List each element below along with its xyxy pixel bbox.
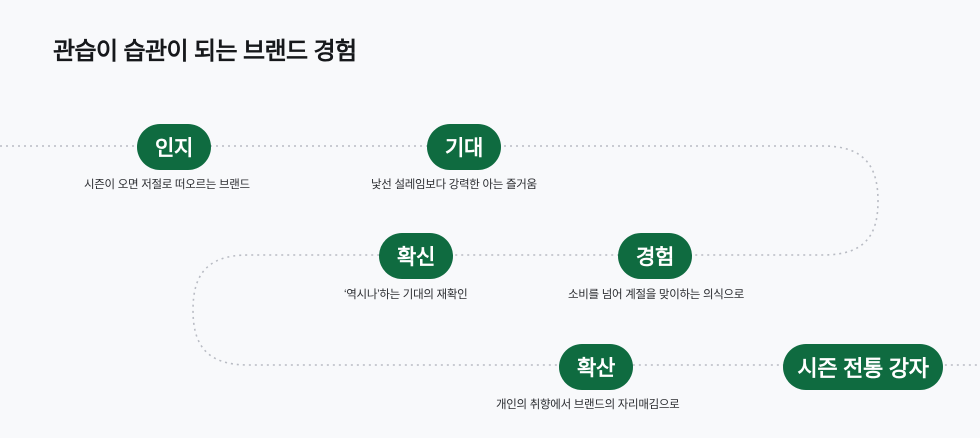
step-caption-1: 시즌이 오면 저절로 떠오르는 브랜드 [84,176,250,192]
step-caption-5: 개인의 취향에서 브랜드의 자리매김으로 [496,396,679,412]
infographic-canvas: 관습이 습관이 되는 브랜드 경험 인지 시즌이 오면 저절로 떠오르는 브랜드… [0,0,980,438]
step-pill-기대[interactable]: 기대 [427,124,501,170]
step-pill-경험[interactable]: 경험 [618,233,692,279]
outcome-pill-시즌-전통-강자[interactable]: 시즌 전통 강자 [783,344,943,390]
step-caption-3: ‘역시나’하는 기대의 재확인 [344,286,467,302]
step-pill-확신[interactable]: 확신 [379,233,453,279]
step-caption-4: 소비를 넘어 계절을 맞이하는 의식으로 [568,286,744,302]
page-title: 관습이 습관이 되는 브랜드 경험 [53,31,357,66]
step-pill-인지[interactable]: 인지 [137,124,211,170]
step-pill-확산[interactable]: 확산 [559,344,633,390]
step-caption-2: 낯선 설레임보다 강력한 아는 즐거움 [371,176,537,192]
